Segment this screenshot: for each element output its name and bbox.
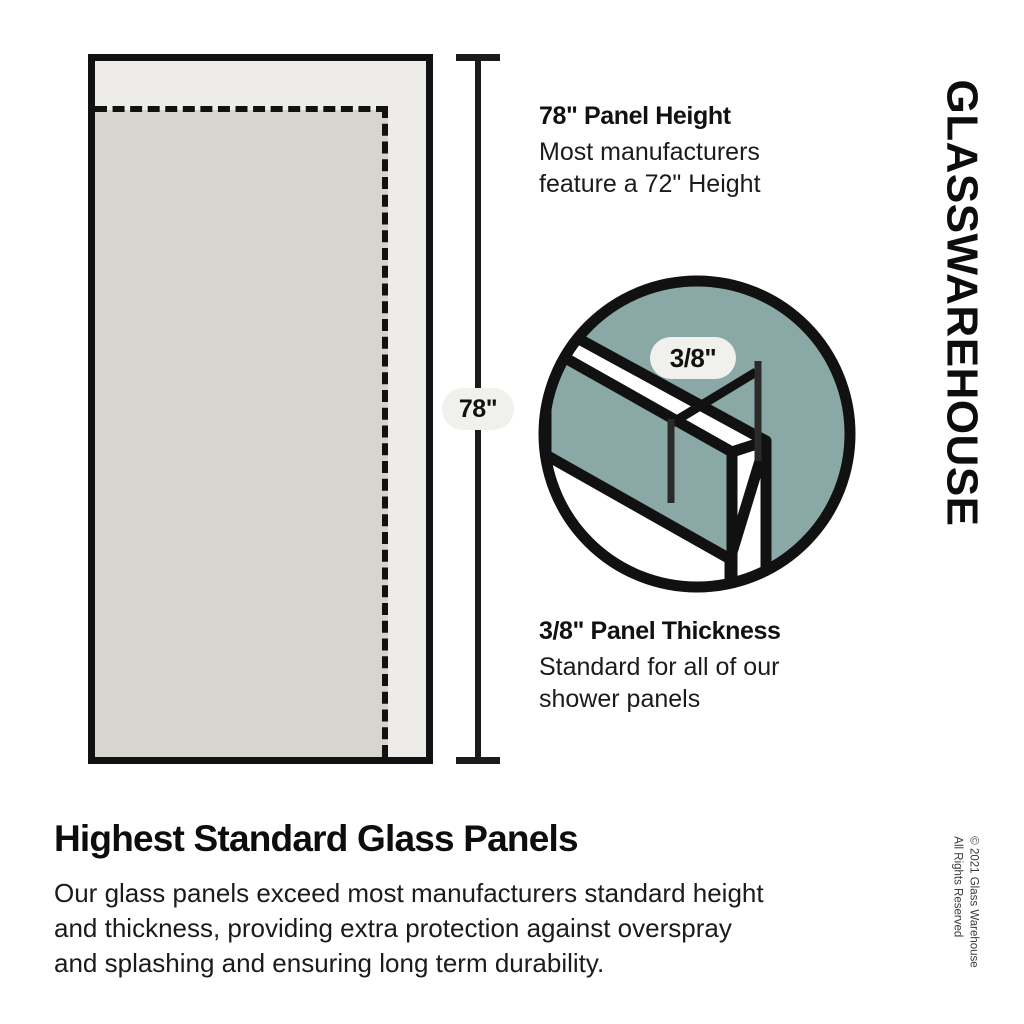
- footer-paragraph-line1: Our glass panels exceed most manufacture…: [54, 876, 904, 911]
- brand-wordmark-text: GLASSWAREHOUSE: [940, 79, 984, 526]
- thickness-dimension-label: 3/8": [650, 337, 736, 379]
- callout-panel-height-title: 78" Panel Height: [539, 102, 869, 131]
- callout-panel-thickness-title: 3/8" Panel Thickness: [539, 617, 879, 646]
- footer-headline: Highest Standard Glass Panels: [54, 818, 578, 860]
- footer-paragraph-line3: and splashing and ensuring long term dur…: [54, 946, 904, 981]
- infographic-canvas: 78" 78" Panel Height Most manufacturers …: [0, 0, 1024, 1024]
- brand-wordmark: GLASSWAREHOUSE: [902, 26, 1022, 606]
- callout-panel-height: 78" Panel Height Most manufacturers feat…: [539, 102, 869, 200]
- copyright-notice: © 2021 Glass Warehouse All Rights Reserv…: [915, 812, 1015, 992]
- panel-comparison-dashed-outline: [95, 106, 388, 757]
- panel-thickness-diagram: 3/8": [534, 271, 860, 597]
- callout-panel-height-body-line2: feature a 72" Height: [539, 168, 869, 200]
- copyright-line-1: © 2021 Glass Warehouse: [965, 836, 981, 967]
- height-dimension-label: 78": [442, 388, 514, 430]
- callout-panel-thickness: 3/8" Panel Thickness Standard for all of…: [539, 617, 879, 715]
- callout-panel-height-body-line1: Most manufacturers: [539, 136, 869, 168]
- glass-panel-illustration: [88, 54, 433, 764]
- footer-paragraph-line2: and thickness, providing extra protectio…: [54, 911, 904, 946]
- dimension-cap-bottom: [456, 757, 500, 764]
- callout-panel-thickness-body-line2: shower panels: [539, 683, 879, 715]
- footer-paragraph: Our glass panels exceed most manufacture…: [54, 876, 904, 980]
- callout-panel-thickness-body-line1: Standard for all of our: [539, 651, 879, 683]
- copyright-line-2: All Rights Reserved: [949, 836, 965, 967]
